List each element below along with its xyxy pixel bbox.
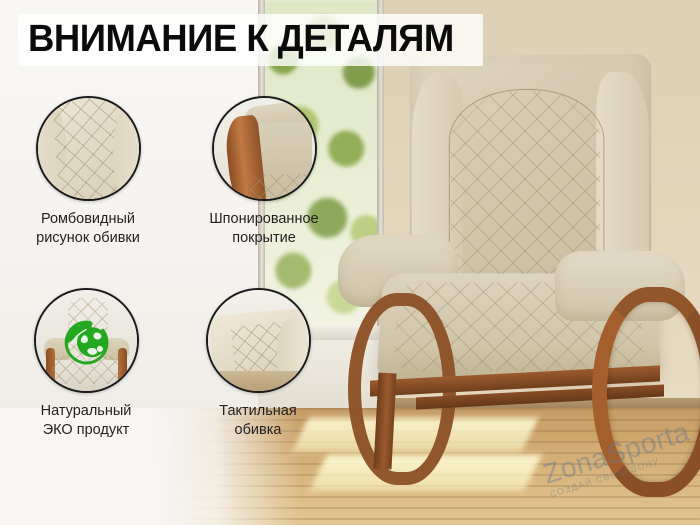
feature-eco-product: Натуральный ЭКО продукт	[0, 288, 172, 440]
bentwood-frame-right	[592, 287, 700, 497]
tactile-cushion-image	[208, 290, 309, 391]
feature-veneer-coating: Шпонированное покрытие	[178, 96, 350, 248]
feature-rhombus-pattern: Ромбовидный рисунок обивки	[2, 96, 174, 248]
title-banner: ВНИМАНИЕ К ДЕТАЛЯМ	[18, 14, 483, 66]
quilted-fabric-closeup-thumbnail	[36, 96, 141, 201]
floor-strip-background	[208, 371, 309, 391]
feature-caption: Натуральный ЭКО продукт	[0, 402, 172, 440]
feature-caption: Тактильная обивка	[172, 402, 344, 440]
quilted-fabric-image	[38, 98, 139, 199]
feature-tactile-upholstery: Тактильная обивка	[172, 288, 344, 440]
beige-quilted-armchair	[330, 55, 700, 475]
feature-caption: Ромбовидный рисунок обивки	[2, 210, 174, 248]
eco-globe-leaf-icon	[56, 311, 116, 371]
armchair-eco-badge-thumbnail	[34, 288, 139, 393]
tactile-cushion-closeup-thumbnail	[206, 288, 311, 393]
page-title: ВНИМАНИЕ К ДЕТАЛЯМ	[28, 18, 454, 60]
veneer-armrest-image	[214, 98, 315, 199]
product-feature-banner: ВНИМАНИЕ К ДЕТАЛЯМ Ромбовидный рисунок о…	[0, 0, 700, 525]
feature-caption: Шпонированное покрытие	[178, 210, 350, 248]
full-armchair-image	[36, 290, 137, 391]
veneer-armrest-closeup-thumbnail	[212, 96, 317, 201]
quilted-seat-detail	[250, 174, 317, 201]
